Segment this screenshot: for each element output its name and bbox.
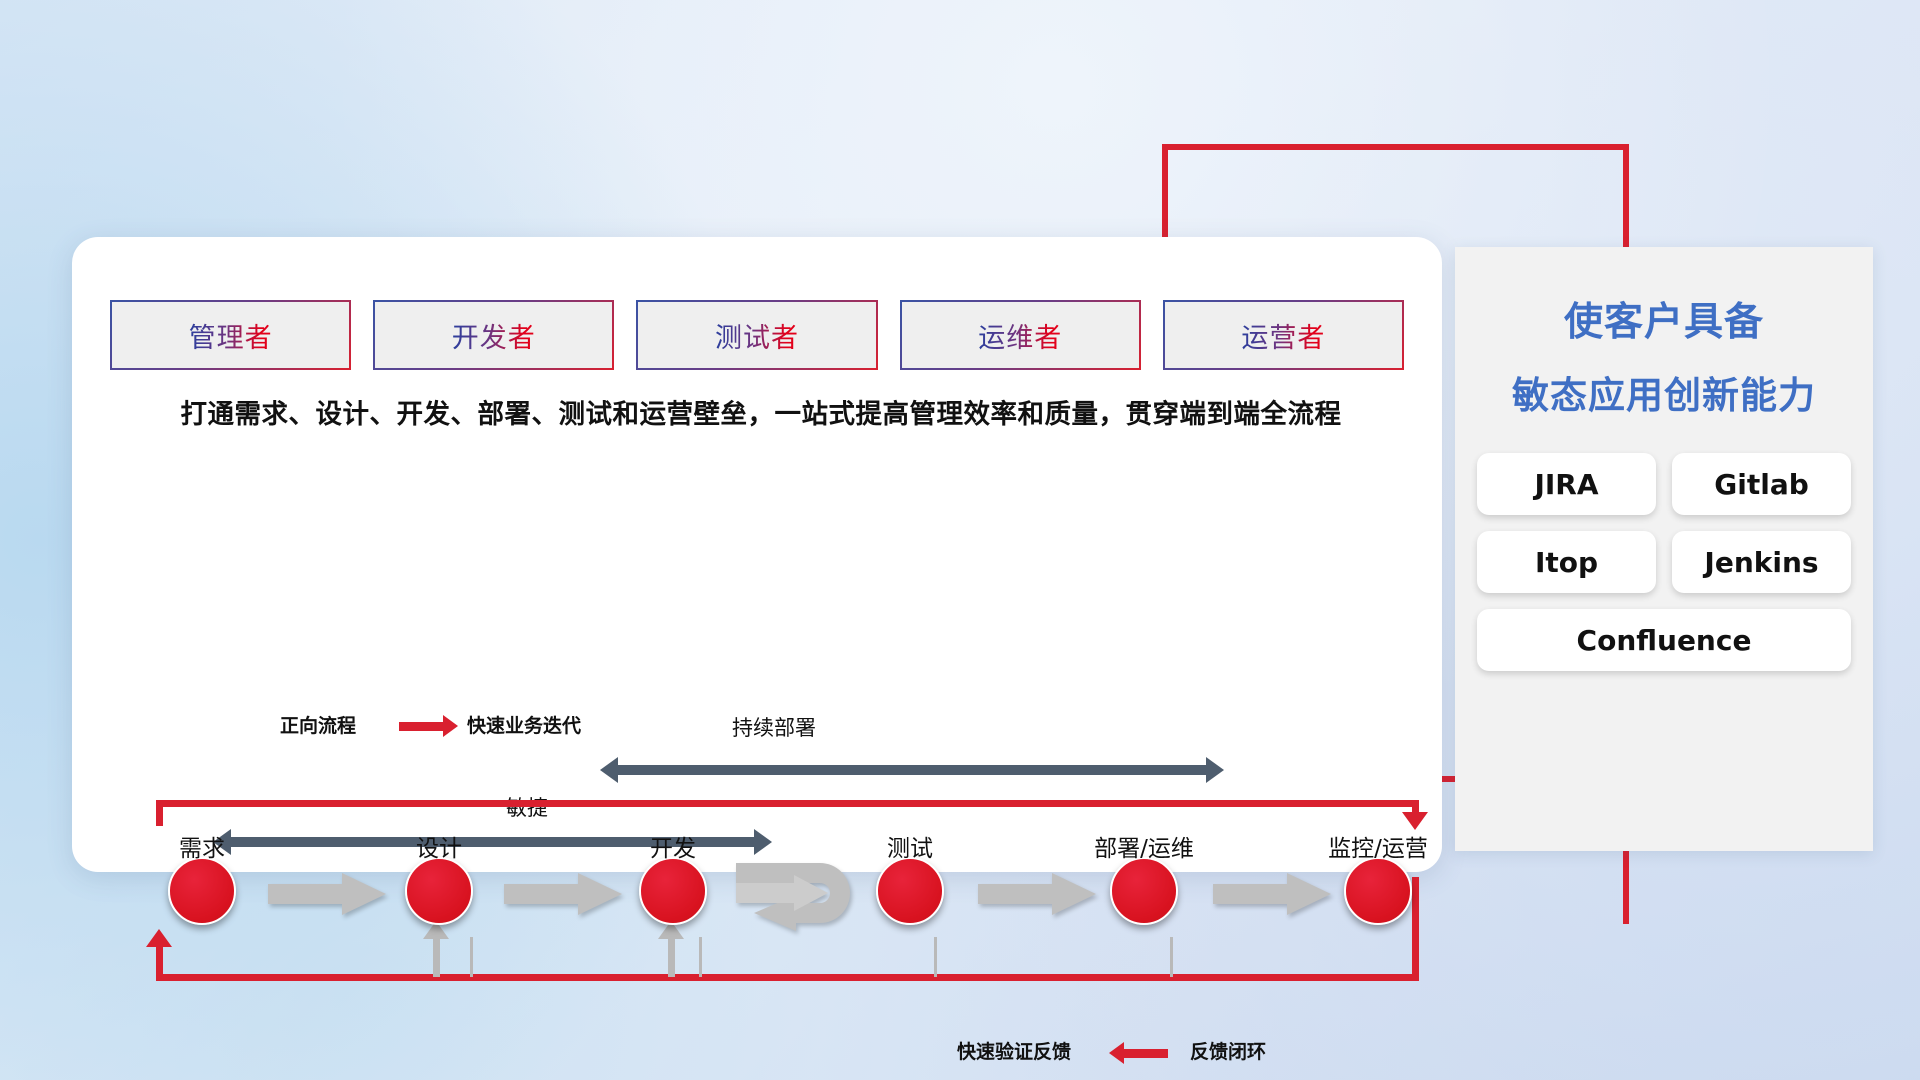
continuous-deploy-arrow-icon xyxy=(617,765,1207,775)
agile-label: 敏捷 xyxy=(506,792,548,822)
connector-arrow-icon xyxy=(1213,873,1331,915)
loop-bottom-segment xyxy=(156,974,1419,981)
tool-badge-gitlab[interactable]: Gitlab xyxy=(1672,453,1851,515)
loop-arrowhead-down-icon xyxy=(1402,812,1428,830)
connector-loop-arrow-icon xyxy=(736,859,862,931)
node-stem xyxy=(470,937,473,977)
forward-flow-from-label: 正向流程 xyxy=(280,711,356,738)
pipeline-node-develop[interactable]: 开发 xyxy=(639,857,707,925)
pipeline-node-dot xyxy=(876,857,944,925)
main-card: 管理者 开发者 测试者 运维者 运营者 打通需求、设计、开发、部署、测试和运营壁… xyxy=(72,237,1442,872)
connector-arrow-icon xyxy=(978,873,1096,915)
pipeline-node-label: 开发 xyxy=(650,829,696,863)
tool-badge-jenkins[interactable]: Jenkins xyxy=(1672,531,1851,593)
panel-title-line1: 使客户具备 xyxy=(1455,291,1873,347)
pipeline-node-label: 监控/运营 xyxy=(1328,829,1428,863)
pipeline-node-requirement[interactable]: 需求 xyxy=(168,857,236,925)
pipeline-node-label: 测试 xyxy=(887,829,933,863)
loop-top-left-segment xyxy=(156,800,163,826)
tool-badge-list: JIRA Gitlab Itop Jenkins Confluence xyxy=(1477,453,1851,671)
loop-top-segment xyxy=(156,800,1419,807)
description-text: 打通需求、设计、开发、部署、测试和运营壁垒，一站式提高管理效率和质量，贯穿端到端… xyxy=(116,392,1406,431)
role-box-developer[interactable]: 开发者 xyxy=(375,302,612,368)
value-panel: 使客户具备 敏态应用创新能力 JIRA Gitlab Itop Jenkins … xyxy=(1455,247,1873,851)
pipeline-node-monitor-operations[interactable]: 监控/运营 xyxy=(1344,857,1412,925)
pipeline-node-dot xyxy=(168,857,236,925)
continuous-deploy-label: 持续部署 xyxy=(732,712,816,742)
panel-title: 使客户具备 敏态应用创新能力 xyxy=(1455,291,1873,419)
pipeline-node-dot xyxy=(639,857,707,925)
feedback-arrow-icon xyxy=(1122,1049,1168,1058)
forward-flow-to-label: 快速业务迭代 xyxy=(467,711,581,738)
node-stem xyxy=(699,937,702,977)
loop-right-segment xyxy=(1412,877,1419,981)
role-label: 运维者 xyxy=(978,316,1062,355)
panel-title-line2: 敏态应用创新能力 xyxy=(1455,365,1873,419)
branch-stem-design xyxy=(433,937,440,977)
role-box-ops[interactable]: 运维者 xyxy=(902,302,1139,368)
role-label: 开发者 xyxy=(452,316,536,355)
role-box-operations[interactable]: 运营者 xyxy=(1165,302,1402,368)
pipeline-node-label: 设计 xyxy=(416,829,462,863)
role-label: 管理者 xyxy=(189,316,273,355)
feedback-from-label: 反馈闭环 xyxy=(1190,1037,1266,1064)
bracket-top-segment xyxy=(1162,144,1629,150)
pipeline-node-label: 需求 xyxy=(179,829,225,863)
pipeline-node-test[interactable]: 测试 xyxy=(876,857,944,925)
role-label: 测试者 xyxy=(715,316,799,355)
tool-badge-itop[interactable]: Itop xyxy=(1477,531,1656,593)
role-box-tester[interactable]: 测试者 xyxy=(638,302,875,368)
pipeline-node-dot xyxy=(1344,857,1412,925)
loop-arrowhead-up-icon xyxy=(146,929,172,947)
pipeline-node-design[interactable]: 设计 xyxy=(405,857,473,925)
tool-badge-confluence[interactable]: Confluence xyxy=(1477,609,1851,671)
pipeline-node-dot xyxy=(1110,857,1178,925)
node-stem xyxy=(934,937,937,977)
pipeline-node-label: 部署/运维 xyxy=(1094,829,1194,863)
forward-flow-arrow-icon xyxy=(399,722,445,731)
feedback-to-label: 快速验证反馈 xyxy=(957,1037,1071,1064)
role-box-manager[interactable]: 管理者 xyxy=(112,302,349,368)
pipeline-node-deploy-ops[interactable]: 部署/运维 xyxy=(1110,857,1178,925)
tool-badge-jira[interactable]: JIRA xyxy=(1477,453,1656,515)
role-label: 运营者 xyxy=(1241,316,1325,355)
connector-arrow-icon xyxy=(268,873,386,915)
connector-arrow-icon xyxy=(504,873,622,915)
loop-left-segment xyxy=(156,945,163,981)
branch-stem-develop xyxy=(668,937,675,977)
role-box-row: 管理者 开发者 测试者 运维者 运营者 xyxy=(112,302,1402,368)
pipeline-node-dot xyxy=(405,857,473,925)
node-stem xyxy=(1170,937,1173,977)
diagram-canvas: 管理者 开发者 测试者 运维者 运营者 打通需求、设计、开发、部署、测试和运营壁… xyxy=(0,0,1920,1080)
